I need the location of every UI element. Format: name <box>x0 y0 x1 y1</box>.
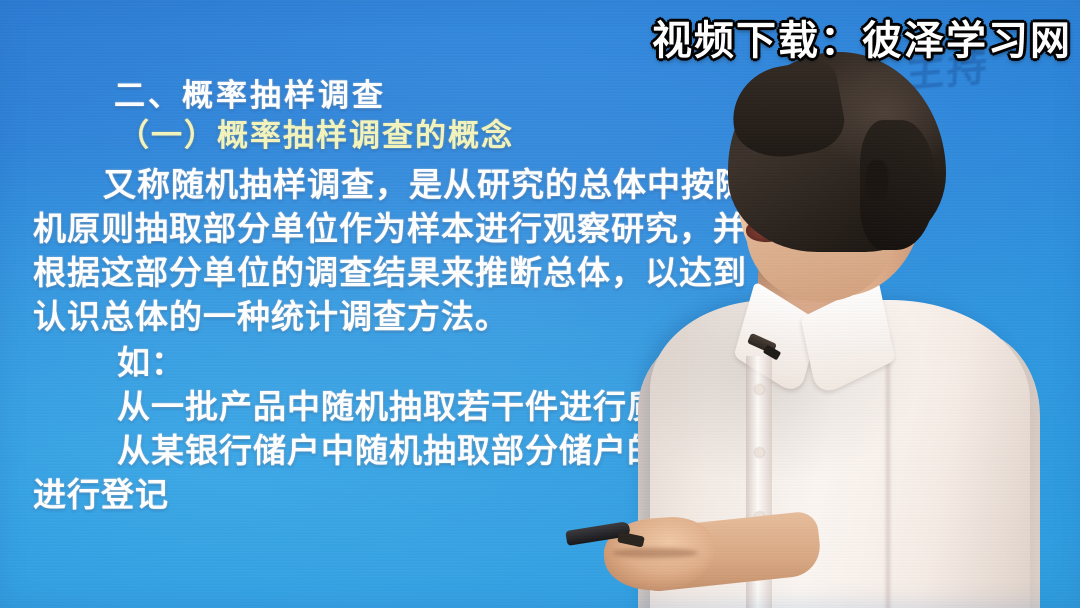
presenter-sleeve-seam <box>886 336 890 608</box>
download-watermark: 视频下载：彼泽学习网 <box>652 8 1072 66</box>
slide-example-line-3: 进行登记 <box>33 468 169 516</box>
slide-subheading: （一）概率抽样调查的概念 <box>118 110 514 155</box>
presenter-shirt-button <box>755 448 764 457</box>
slide-example-label: 如： <box>117 336 185 384</box>
presenter-shirt-button <box>755 385 764 394</box>
presenter-sideburn <box>866 160 888 200</box>
slide-heading: 二、概率抽样调查 <box>114 70 386 115</box>
presenter-figure <box>560 0 1080 608</box>
presenter-finger-shadow <box>612 548 698 558</box>
slide-body-line-4: 认识总体的一种统计调查方法。 <box>33 290 509 338</box>
video-frame: 主持 二、概率抽样调查 （一）概率抽样调查的概念 又称随机抽样调查，是从研究的总… <box>0 0 1080 608</box>
